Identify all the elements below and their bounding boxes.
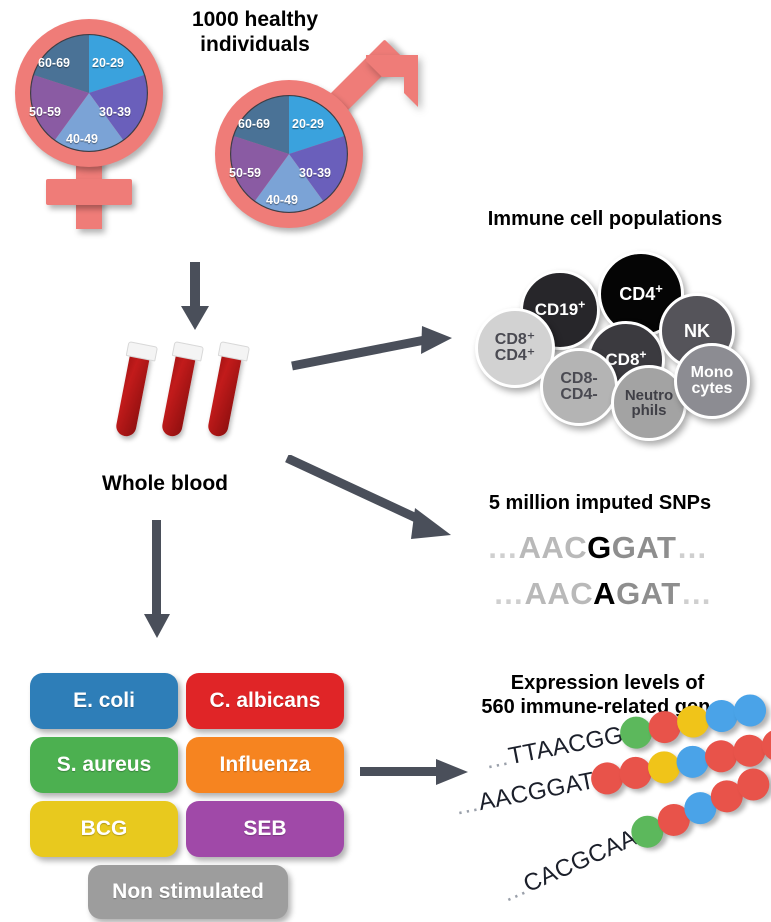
stimulus-label: S. aureus xyxy=(57,753,152,777)
male-label-50-59: 50-59 xyxy=(229,166,261,180)
immune-cell-label: NK xyxy=(684,322,710,341)
snp-variant: G xyxy=(587,530,612,565)
blood-tube xyxy=(205,342,245,440)
arrow-cohort-to-blood xyxy=(178,262,212,332)
female-label-60-69: 60-69 xyxy=(38,56,70,70)
male-symbol: 60-69 20-29 30-39 40-49 50-59 xyxy=(210,48,420,243)
snp-tail: … xyxy=(676,530,708,565)
blood-tube xyxy=(113,342,153,440)
stimulus-non-stimulated[interactable]: Non stimulated xyxy=(88,865,288,919)
dna-sequence-text: …CACGCAA xyxy=(497,824,641,909)
immune-cell-label: Neutrophils xyxy=(625,388,673,419)
arrow-blood-to-stimuli xyxy=(140,520,174,640)
male-label-30-39: 30-39 xyxy=(299,166,331,180)
immune-title: Immune cell populations xyxy=(455,208,755,232)
arrow-blood-to-snps xyxy=(285,455,460,545)
immune-cell-monocytes: Monocytes xyxy=(674,343,750,419)
immune-cell-cluster: CD19+CD4+CD8+NKCD8⁺CD4⁺CD8-CD4-Neutrophi… xyxy=(470,248,760,428)
stimulus-label: SEB xyxy=(243,817,286,841)
tube-blood xyxy=(207,352,243,438)
snp-suffix: GAT xyxy=(616,576,681,611)
stimulus-e--coli[interactable]: E. coli xyxy=(30,673,178,729)
stimulus-label: E. coli xyxy=(73,689,135,713)
snp-sequences: …AACGGAT……AACAGAT… xyxy=(487,530,757,620)
stimulus-label: Non stimulated xyxy=(112,880,264,904)
female-crossbar xyxy=(46,179,132,205)
snp-lead: … xyxy=(493,576,525,611)
snp-suffix: GAT xyxy=(612,530,677,565)
tube-blood xyxy=(115,352,151,438)
male-label-40-49: 40-49 xyxy=(266,193,298,207)
male-arrowhead-svg xyxy=(360,53,420,111)
stimulus-label: BCG xyxy=(81,817,128,841)
snp-prefix: AAC xyxy=(525,576,594,611)
male-arrow-head xyxy=(360,53,410,103)
stimulus-influenza[interactable]: Influenza xyxy=(186,737,344,793)
stimulus-label: C. albicans xyxy=(210,689,321,713)
immune-cell-label: Monocytes xyxy=(691,365,734,398)
diagram-canvas: 1000 healthy individuals 60-69 20-29 30-… xyxy=(0,0,771,922)
immune-cell-label: CD19+ xyxy=(535,301,586,319)
immune-cell-cd8-cd4-: CD8-CD4- xyxy=(540,348,618,426)
stimuli-panel: E. coliC. albicansS. aureusInfluenzaBCGS… xyxy=(30,673,340,903)
blood-tubes xyxy=(105,338,265,448)
snp-sequence-row: …AACAGAT… xyxy=(493,576,712,612)
female-label-50-59: 50-59 xyxy=(29,105,61,119)
snp-variant: A xyxy=(593,576,616,611)
arrow-stimuli-to-expression xyxy=(360,756,470,788)
immune-cell-label: CD8-CD4- xyxy=(560,371,597,404)
immune-cell-label: CD4+ xyxy=(619,285,663,304)
male-label-20-29: 20-29 xyxy=(292,117,324,131)
stimulus-bcg[interactable]: BCG xyxy=(30,801,178,857)
female-symbol: 60-69 20-29 30-39 40-49 50-59 xyxy=(10,14,185,229)
whole-blood-label: Whole blood xyxy=(75,472,255,497)
snp-lead: … xyxy=(487,530,519,565)
expression-title-line1: Expression levels of xyxy=(455,672,760,696)
dna-sequence-text: …AACGGAT xyxy=(452,767,597,822)
female-label-30-39: 30-39 xyxy=(99,105,131,119)
snps-title: 5 million imputed SNPs xyxy=(450,492,750,516)
female-label-40-49: 40-49 xyxy=(66,132,98,146)
blood-tube xyxy=(159,342,199,440)
snp-sequence-row: …AACGGAT… xyxy=(487,530,708,566)
stimulus-s--aureus[interactable]: S. aureus xyxy=(30,737,178,793)
snp-tail: … xyxy=(681,576,713,611)
tube-blood xyxy=(161,352,197,438)
dna-strands: …TTAACGG…AACGGAT…CACGCAA xyxy=(455,730,771,920)
stimulus-c--albicans[interactable]: C. albicans xyxy=(186,673,344,729)
arrow-blood-to-immune xyxy=(290,325,455,375)
stimulus-seb[interactable]: SEB xyxy=(186,801,344,857)
stimulus-label: Influenza xyxy=(219,753,310,777)
male-label-60-69: 60-69 xyxy=(238,117,270,131)
female-label-20-29: 20-29 xyxy=(92,56,124,70)
dna-bead xyxy=(731,692,769,730)
immune-cell-label: CD8⁺CD4⁺ xyxy=(495,332,535,365)
snp-prefix: AAC xyxy=(519,530,588,565)
